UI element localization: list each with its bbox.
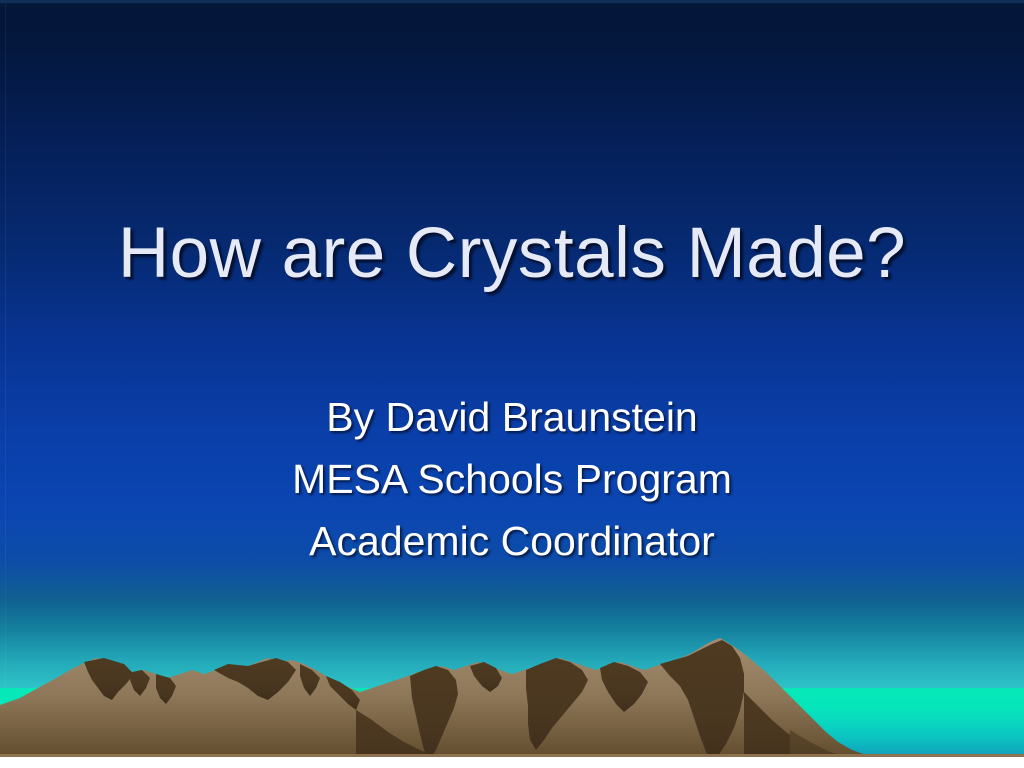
subtitle-block: By David Braunstein MESA Schools Program… (0, 386, 1024, 572)
mountain-ridge-graphic (0, 600, 1024, 768)
subtitle-line-author: By David Braunstein (0, 386, 1024, 448)
slide-bottom-margin (0, 757, 1024, 768)
presentation-slide: How are Crystals Made? By David Braunste… (0, 0, 1024, 768)
slide-title: How are Crystals Made? (118, 212, 906, 296)
title-block: How are Crystals Made? (0, 212, 1024, 296)
subtitle-line-role: Academic Coordinator (0, 510, 1024, 572)
mountain-ridge-svg (0, 600, 1024, 768)
subtitle-line-program: MESA Schools Program (0, 448, 1024, 510)
slide-top-edge (0, 0, 1024, 3)
